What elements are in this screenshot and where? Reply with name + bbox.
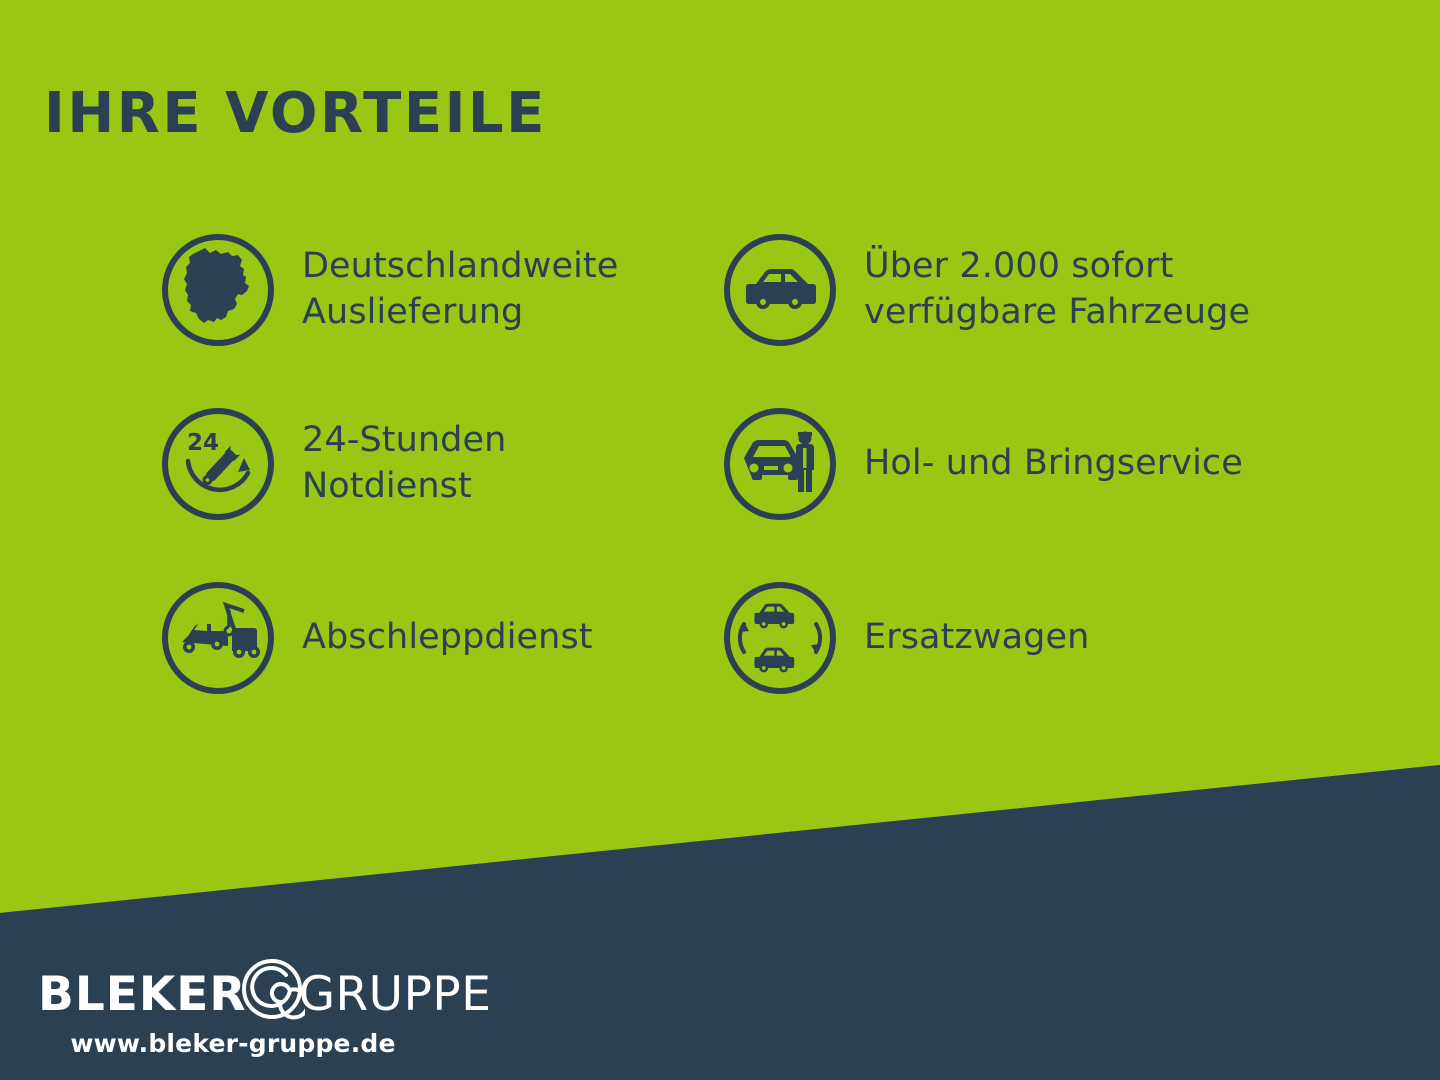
benefit-label-line1: Über 2.000 sofort bbox=[864, 246, 1173, 286]
benefit-label-line1: 24-Stunden bbox=[302, 420, 506, 460]
replacement-car-icon bbox=[722, 580, 838, 696]
svg-text:24: 24 bbox=[187, 430, 219, 456]
benefit-label: Ersatzwagen bbox=[864, 615, 1089, 661]
benefit-item-ersatzwagen: Ersatzwagen bbox=[722, 578, 1089, 698]
car-icon bbox=[722, 232, 838, 348]
germany-map-icon bbox=[160, 232, 276, 348]
benefit-label-line1: Ersatzwagen bbox=[864, 617, 1089, 657]
benefit-label-line1: Abschleppdienst bbox=[302, 617, 593, 657]
benefit-label-line2: Notdienst bbox=[302, 464, 506, 510]
car-with-driver-icon bbox=[722, 406, 838, 522]
benefit-label-line1: Hol- und Bringservice bbox=[864, 443, 1243, 483]
benefit-item-verfuegbare-fahrzeuge: Über 2.000 sofort verfügbare Fahrzeuge bbox=[722, 230, 1250, 350]
slide-canvas: IHRE VORTEILE Deutschlandweite Ausliefer… bbox=[0, 0, 1440, 1080]
logo-secondary-text: GRUPPE bbox=[299, 971, 492, 1018]
benefit-item-abschleppdienst: Abschleppdienst bbox=[160, 578, 593, 698]
benefit-item-deutschlandweite-auslieferung: Deutschlandweite Auslieferung bbox=[160, 230, 618, 350]
24-hour-service-icon: 24 bbox=[160, 406, 276, 522]
page-title: IHRE VORTEILE bbox=[44, 86, 547, 142]
benefit-label: Deutschlandweite Auslieferung bbox=[302, 244, 618, 336]
benefit-label: Hol- und Bringservice bbox=[864, 441, 1243, 487]
benefit-label-line2: Auslieferung bbox=[302, 290, 618, 336]
logo-primary-text: BLEKER bbox=[38, 971, 247, 1018]
company-logo: BLEKER GRUPPE www.bleker-gruppe.de bbox=[38, 963, 458, 1058]
logo-wordmark: BLEKER GRUPPE bbox=[38, 963, 458, 1025]
benefit-item-hol-und-bringservice: Hol- und Bringservice bbox=[722, 404, 1243, 524]
benefit-label: Über 2.000 sofort verfügbare Fahrzeuge bbox=[864, 244, 1250, 336]
benefit-label-line2: verfügbare Fahrzeuge bbox=[864, 290, 1250, 336]
benefit-label: Abschleppdienst bbox=[302, 615, 593, 661]
spiral-icon bbox=[239, 956, 305, 1022]
benefit-label-line1: Deutschlandweite bbox=[302, 246, 618, 286]
benefit-item-24-stunden-notdienst: 24 24-Stunden Notdienst bbox=[160, 404, 506, 524]
website-url: www.bleker-gruppe.de bbox=[38, 1029, 428, 1058]
tow-truck-icon bbox=[160, 580, 276, 696]
benefit-label: 24-Stunden Notdienst bbox=[302, 418, 506, 510]
